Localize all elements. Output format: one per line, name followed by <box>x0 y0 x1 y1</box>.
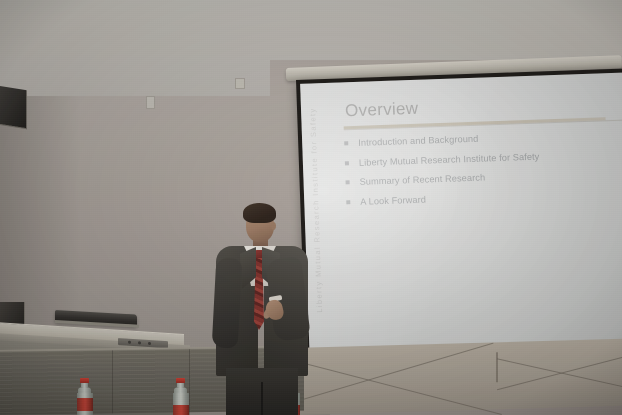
presenter <box>214 200 310 415</box>
wall-sensor-icon <box>235 78 245 89</box>
bullet-label: Summary of Recent Research <box>359 172 485 186</box>
square-bullet-icon <box>346 180 350 184</box>
projection-screen: Liberty Mutual Research Institute for Sa… <box>296 68 622 359</box>
bullet-label: Introduction and Background <box>358 134 478 148</box>
bottle-body <box>173 393 189 415</box>
list-item: Liberty Mutual Research Institute for Sa… <box>345 148 622 168</box>
leg-separation <box>261 382 263 415</box>
water-bottle <box>172 378 189 415</box>
bullet-label: A Look Forward <box>360 194 426 206</box>
bottle-label <box>77 398 93 411</box>
left-arm <box>212 257 243 348</box>
list-item: Introduction and Background <box>344 128 622 148</box>
hair <box>243 203 276 223</box>
wall-speaker-icon <box>0 86 27 130</box>
ear <box>271 222 276 230</box>
presentation-photo: Liberty Mutual Research Institute for Sa… <box>0 0 622 415</box>
screen-surface: Liberty Mutual Research Institute for Sa… <box>300 73 622 356</box>
bottle-body <box>77 393 93 415</box>
slide-overview: Liberty Mutual Research Institute for Sa… <box>300 73 622 356</box>
wire-post <box>496 352 498 382</box>
slide-title: Overview <box>345 99 419 122</box>
wall-outlet-icon <box>146 96 155 109</box>
slide-bullet-list: Introduction and Background Liberty Mutu… <box>344 128 622 216</box>
water-bottle <box>76 378 93 415</box>
square-bullet-icon <box>344 141 348 145</box>
bullet-label: Liberty Mutual Research Institute for Sa… <box>359 151 540 167</box>
list-item: A Look Forward <box>346 187 622 207</box>
lower-wall <box>292 339 622 415</box>
square-bullet-icon <box>345 161 349 165</box>
slide-side-text: Liberty Mutual Research Institute for Sa… <box>308 107 324 313</box>
square-bullet-icon <box>346 200 350 204</box>
bottle-label <box>173 405 189 415</box>
list-item: Summary of Recent Research <box>345 167 622 187</box>
